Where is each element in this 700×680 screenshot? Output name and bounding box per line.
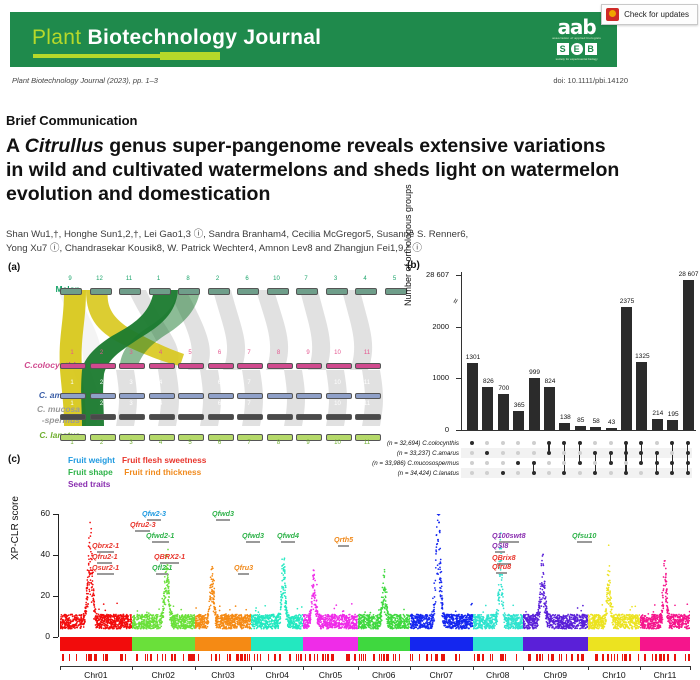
panel-c-axis-segment xyxy=(588,666,640,667)
synteny-chr-number: 5 xyxy=(178,401,202,407)
panel-c-sweep-tick xyxy=(241,654,242,661)
panel-c-sweep-tick xyxy=(442,654,443,661)
panel-c-chromosome-label: Chr04 xyxy=(251,670,303,680)
legend-item-fruit-flesh-sweetness: Fruit flesh sweetness xyxy=(122,455,206,465)
panel-b-matrix-dot-off xyxy=(532,441,536,445)
panel-b-matrix-dot-on xyxy=(686,441,690,445)
seb-logo: S E B xyxy=(552,43,601,55)
panel-b-y-tick-label: 1000 xyxy=(405,373,449,382)
panel-c-sweep-tick xyxy=(328,654,329,661)
panel-c-sweep-tick xyxy=(614,654,615,661)
panel-c-sweep-tick xyxy=(381,654,382,661)
synteny-chr-bar xyxy=(237,393,263,399)
synteny-chr-bar xyxy=(237,414,263,420)
panel-c-chromosome-block xyxy=(640,514,690,637)
panel-c-qtl-label: Qfwd2-1 xyxy=(146,531,174,543)
panel-c-sweep-tick xyxy=(69,654,70,661)
panel-c-sweep-tick xyxy=(230,654,231,661)
synteny-chr-number: 10 xyxy=(326,440,350,446)
panel-a-label: (a) xyxy=(8,262,20,273)
panel-c-sweep-tick xyxy=(198,654,199,661)
panel-c-chromosome-label: Chr11 xyxy=(640,670,690,680)
synteny-chr-bar xyxy=(326,363,352,369)
synteny-chr-bar xyxy=(208,288,230,295)
synteny-chr-bar xyxy=(208,414,234,420)
panel-c-sweep-tick xyxy=(559,654,560,661)
panel-c-sweep-tick xyxy=(211,654,212,661)
panel-c-y-tick-label: 0 xyxy=(24,631,50,641)
panel-b-bar xyxy=(590,427,601,430)
synteny-chr-bar xyxy=(326,288,348,295)
panel-c-sweep-tick xyxy=(86,654,87,661)
panel-c-sweep-tick xyxy=(219,654,220,661)
article-type: Brief Communication xyxy=(6,113,137,128)
synteny-chr-number: 9 xyxy=(296,401,320,407)
synteny-chr-number: 7 xyxy=(296,276,316,282)
panel-c-chromosome-label: Chr08 xyxy=(473,670,523,680)
panel-c-sweep-tick xyxy=(516,654,517,661)
panel-c-sweep-tick xyxy=(566,654,567,661)
panel-a-synteny: (a) xyxy=(8,262,403,444)
panel-c-chromosome-color-bar xyxy=(588,637,640,651)
panel-b-bar-value: 999 xyxy=(522,369,548,376)
panel-c-sweep-tick xyxy=(571,654,572,661)
synteny-chr-number: 6 xyxy=(208,401,232,407)
panel-c-sweep-tick xyxy=(191,654,192,661)
panel-c-sweep-tick xyxy=(530,654,531,661)
panel-c-sweep-tick xyxy=(644,654,645,661)
panel-c-sweep-tick xyxy=(175,654,176,661)
panel-b-bar-value: 1325 xyxy=(629,353,655,360)
synteny-chr-bar xyxy=(178,393,204,399)
panel-c-chromosome-label: Chr06 xyxy=(358,670,410,680)
synteny-chr-number: 6 xyxy=(237,276,257,282)
panel-c-qtl-underline xyxy=(97,572,113,575)
panel-c-y-tick-label: 40 xyxy=(24,549,50,559)
panel-c-sweep-tick xyxy=(395,654,396,661)
panel-c-chromosome-label: Chr05 xyxy=(303,670,357,680)
synteny-chr-bar xyxy=(119,393,145,399)
panel-b-bar-value: 2375 xyxy=(614,298,640,305)
panel-c-sweep-tick xyxy=(661,654,662,661)
synteny-chr-number: 10 xyxy=(326,350,350,356)
panel-c-sweep-tick xyxy=(354,654,355,661)
axis-break-icon: ≈ xyxy=(450,297,461,305)
synteny-chr-bar xyxy=(60,363,86,369)
title-genus: Citrullus xyxy=(25,135,104,157)
panel-c-sweep-tick xyxy=(595,654,596,661)
panel-c-y-tick xyxy=(53,514,58,515)
panel-c-sweep-tick xyxy=(245,654,246,661)
synteny-chr-number: 9 xyxy=(296,380,320,386)
synteny-chr-number: 11 xyxy=(355,440,379,446)
synteny-chr-bar xyxy=(237,363,263,369)
panel-c-sweep-tick xyxy=(482,654,483,661)
synteny-chr-number: 3 xyxy=(119,380,143,386)
panel-b-bar xyxy=(652,419,663,430)
panel-c-sweep-tick xyxy=(582,654,583,661)
synteny-chr-bar xyxy=(296,363,322,369)
panel-c-y-tick xyxy=(53,596,58,597)
panel-c-chromosome-block xyxy=(358,514,410,637)
panel-b-y-tick xyxy=(456,275,461,276)
panel-c-chromosome-color-bar xyxy=(132,637,195,651)
synteny-chr-number: 9 xyxy=(60,276,80,282)
page-title: A Citrullus genus super-pangenome reveal… xyxy=(6,134,626,206)
panel-b-matrix-dot-off xyxy=(655,441,659,445)
synteny-chr-number: 3 xyxy=(119,350,143,356)
synteny-chr-number: 7 xyxy=(237,440,261,446)
panel-c-chromosome-block xyxy=(410,514,473,637)
panel-c-y-axis xyxy=(58,514,59,637)
panel-c-qtl-label: Qfru8 xyxy=(492,562,511,574)
citation-left: Plant Biotechnology Journal (2023), pp. … xyxy=(12,76,158,85)
synteny-chr-bar xyxy=(355,414,381,420)
synteny-chr-number: 4 xyxy=(355,276,375,282)
panel-c-y-axis-label: XP-CLR score xyxy=(10,496,21,560)
panel-c-sweep-tick xyxy=(90,654,91,661)
synteny-chr-bar xyxy=(355,288,377,295)
panel-c-axis-segment xyxy=(60,666,132,667)
synteny-chr-number: 9 xyxy=(296,350,320,356)
panel-b-bar xyxy=(683,280,694,430)
synteny-chr-bar xyxy=(208,393,234,399)
synteny-chr-number: 1 xyxy=(60,350,84,356)
panel-c-axis-tick-end xyxy=(690,666,691,670)
synteny-chr-number: 7 xyxy=(237,350,261,356)
panel-c-sweep-tick xyxy=(548,654,549,661)
panel-b-bar xyxy=(467,363,478,430)
synteny-chr-number: 10 xyxy=(326,401,350,407)
synteny-chr-number: 6 xyxy=(208,440,232,446)
panel-c-sweep-tick xyxy=(663,654,664,661)
panel-b-matrix-dot-on xyxy=(470,441,474,445)
synteny-chr-bar xyxy=(149,393,175,399)
panel-c-sweep-tick xyxy=(399,654,400,661)
legend-item-fruit-rind-thickness: Fruit rind thickness xyxy=(124,467,201,477)
panel-c-sweep-tick xyxy=(437,654,438,661)
panel-c-chromosome-block xyxy=(60,514,132,637)
panel-c-legend: Fruit weight Fruit flesh sweetness Fruit… xyxy=(68,454,206,490)
panel-c-sweep-tick xyxy=(183,654,184,661)
synteny-chr-bar xyxy=(119,363,145,369)
panel-c-axis-segment xyxy=(132,666,195,667)
panel-c-sweep-tick xyxy=(459,654,460,661)
panel-c-qtl-underline xyxy=(156,572,168,575)
panel-b-bar xyxy=(544,387,555,430)
panel-c-sweep-tick xyxy=(189,654,190,661)
panel-b-matrix-dot-on xyxy=(578,441,582,445)
panel-c-chromosome-color-bar xyxy=(251,637,303,651)
journal-title-plant: Plant xyxy=(32,26,88,49)
panel-c-chromosome-color-bar xyxy=(523,637,588,651)
legend-item-fruit-weight: Fruit weight xyxy=(68,455,115,465)
panel-c-sweep-tick xyxy=(607,654,608,661)
synteny-chr-number: 3 xyxy=(119,440,143,446)
journal-header-band: Plant Biotechnology Journal aab associat… xyxy=(10,12,617,67)
panel-c-sweep-tick xyxy=(227,654,228,661)
panel-b-bar-value: 700 xyxy=(491,385,517,392)
panel-b-upset: (b) Number of orthologous groups ≈ 01000… xyxy=(405,258,697,473)
synteny-chr-bar xyxy=(149,288,171,295)
panel-c-chromosome-color-bar xyxy=(640,637,690,651)
panel-c-sweep-tick xyxy=(505,654,506,661)
panel-c-axis-segment xyxy=(640,666,690,667)
panel-b-matrix-dot-on xyxy=(624,441,628,445)
panel-c-axis-segment xyxy=(195,666,251,667)
panel-c-chromosome-color-bar xyxy=(358,637,410,651)
citation-doi: doi: 10.1111/pbi.14120 xyxy=(553,76,628,85)
panel-c-sweep-tick xyxy=(96,654,97,661)
panel-c-sweep-tick xyxy=(314,654,315,661)
panel-c-axis-segment xyxy=(358,666,410,667)
panel-c-chromosome-label: Chr02 xyxy=(132,670,195,680)
panel-c-manhattan: (c) Fruit weight Fruit flesh sweetness F… xyxy=(6,452,696,678)
synteny-chr-number: 2 xyxy=(90,440,114,446)
panel-c-sweep-tick xyxy=(455,654,456,661)
panel-c-qtl-underline xyxy=(281,540,294,543)
panel-c-qtl-label: Qfru3 xyxy=(234,563,253,575)
panel-b-bar xyxy=(575,426,586,430)
panel-c-y-tick xyxy=(53,637,58,638)
panel-b-bar xyxy=(482,387,493,430)
panel-c-sweep-tick xyxy=(275,654,276,661)
synteny-chr-bar xyxy=(296,393,322,399)
panel-c-sweep-tick xyxy=(689,654,690,661)
seb-letter-b: B xyxy=(585,43,597,55)
panel-c-qtl-label: Qrth5 xyxy=(334,535,353,547)
panel-c-sweep-tick xyxy=(659,654,660,661)
check-for-updates-label: Check for updates xyxy=(624,10,689,19)
panel-c-sweep-tick xyxy=(76,654,77,661)
panel-c-sweep-tick xyxy=(655,654,656,661)
panel-c-sweep-tick xyxy=(652,654,653,661)
journal-underline-tab xyxy=(160,52,220,60)
author-line-1: Shan Wu1,†, Honghe Sun1,2,†, Lei Gao1,3 … xyxy=(6,228,666,242)
synteny-chr-number: 2 xyxy=(208,276,228,282)
panel-c-sweep-tick xyxy=(638,654,639,661)
panel-b-y-axis xyxy=(461,272,462,430)
synteny-chr-bar xyxy=(267,363,293,369)
synteny-chr-bar xyxy=(149,363,175,369)
synteny-chr-number: 5 xyxy=(178,350,202,356)
synteny-chr-number: 6 xyxy=(208,380,232,386)
panel-b-bar xyxy=(513,411,524,430)
panel-b-bar xyxy=(667,420,678,430)
synteny-chr-number: 11 xyxy=(355,350,379,356)
panel-c-chromosome-color-bar xyxy=(195,637,251,651)
panel-b-bar-value: 28 607 xyxy=(676,271,700,278)
panel-c-sweep-tick xyxy=(539,654,540,661)
synteny-chr-number: 6 xyxy=(208,350,232,356)
synteny-chr-number: 4 xyxy=(149,350,173,356)
synteny-chr-bar xyxy=(267,288,289,295)
panel-c-sweep-tick xyxy=(332,654,333,661)
synteny-chr-bar xyxy=(178,288,200,295)
panel-c-sweep-tick xyxy=(492,654,493,661)
panel-c-axis-segment xyxy=(251,666,303,667)
panel-c-chromosome-label: Chr03 xyxy=(195,670,251,680)
panel-c-chromosome-color-bar xyxy=(473,637,523,651)
synteny-chr-number: 1 xyxy=(60,401,84,407)
panel-c-sweep-tick xyxy=(542,654,543,661)
panel-c-sweep-tick xyxy=(667,654,668,661)
panel-b-bar xyxy=(621,307,632,430)
panel-c-sweep-tick xyxy=(435,654,436,661)
journal-title-rest: Biotechnology Journal xyxy=(88,26,322,49)
check-for-updates-badge[interactable]: Check for updates xyxy=(601,4,698,25)
panel-b-matrix-dot-on xyxy=(547,441,551,445)
panel-c-qtl-underline xyxy=(338,544,350,547)
panel-c-qtl-label: Qfwd3 xyxy=(212,509,234,521)
panel-c-sweep-tick xyxy=(289,654,290,661)
panel-b-bar-value: 824 xyxy=(537,378,563,385)
aab-logo: aab association of applied biologists S … xyxy=(552,18,601,61)
panel-c-chromosome-color-bar xyxy=(60,637,132,651)
synteny-chr-number: 11 xyxy=(119,276,139,282)
legend-item-seed-traits: Seed traits xyxy=(68,479,110,489)
panel-b-bar xyxy=(529,378,540,430)
synteny-chr-number: 4 xyxy=(149,380,173,386)
synteny-chr-number: 3 xyxy=(119,401,143,407)
synteny-chr-number: 10 xyxy=(326,380,350,386)
panel-c-sweep-tick xyxy=(536,654,537,661)
panel-c-sweep-tick xyxy=(443,654,444,661)
panel-c-sweep-tick xyxy=(359,654,360,661)
synteny-chr-number: 3 xyxy=(326,276,346,282)
panel-c-sweep-tick xyxy=(137,654,138,661)
panel-c-sweep-tick xyxy=(215,654,216,661)
panel-c-qtl-underline xyxy=(577,540,592,543)
panel-c-qtl-underline xyxy=(152,540,169,543)
panel-c-qtl-label: Qfwd3 xyxy=(242,531,264,543)
panel-c-axis-segment xyxy=(303,666,357,667)
panel-c-sweep-tick xyxy=(121,654,122,661)
panel-c-qtl-label: Qfw2-3 xyxy=(142,509,166,521)
panel-c-label: (c) xyxy=(8,454,20,465)
panel-c-sweep-tick xyxy=(103,654,104,661)
panel-b-y-tick xyxy=(456,378,461,379)
synteny-chr-number: 5 xyxy=(178,440,202,446)
panel-b-set-label: (n = 32,694) C.colocynthis xyxy=(387,440,459,447)
synteny-chr-bar xyxy=(208,363,234,369)
panel-c-sweep-tick xyxy=(622,654,623,661)
panel-b-y-tick-label: 0 xyxy=(405,425,449,434)
panel-c-sweep-tick xyxy=(611,654,612,661)
synteny-chr-bar xyxy=(267,393,293,399)
legend-item-fruit-shape: Fruit shape xyxy=(68,467,113,477)
synteny-chr-bar xyxy=(60,414,86,420)
panel-c-chromosome-label: Chr09 xyxy=(523,670,588,680)
panel-c-sweep-tick xyxy=(363,654,364,661)
panel-b-bar xyxy=(636,362,647,430)
panel-b-y-tick xyxy=(456,327,461,328)
synteny-chr-bar xyxy=(60,288,82,295)
synteny-chr-bar xyxy=(119,414,145,420)
synteny-chr-number: 11 xyxy=(355,380,379,386)
panel-b-bar xyxy=(498,394,509,430)
synteny-chr-number: 12 xyxy=(90,276,110,282)
panel-c-sweep-tick xyxy=(171,654,172,661)
synteny-chr-bar xyxy=(60,393,86,399)
synteny-chr-bar xyxy=(90,414,116,420)
panel-c-sweep-tick xyxy=(238,654,239,661)
panel-c-sweep-tick xyxy=(305,654,306,661)
panel-c-sweep-tick xyxy=(260,654,261,661)
synteny-chr-number: 4 xyxy=(149,440,173,446)
synteny-chr-bar xyxy=(355,363,381,369)
panel-c-sweep-tick xyxy=(674,654,675,661)
panel-c-sweep-tick xyxy=(162,654,163,661)
panel-c-qtl-underline xyxy=(496,571,508,574)
seb-letter-s: S xyxy=(557,43,569,55)
panel-c-sweep-tick xyxy=(157,654,158,661)
panel-c-sweep-tick xyxy=(561,654,562,661)
panel-c-chromosome-label: Chr07 xyxy=(410,670,473,680)
panel-c-qtl-label: QSl8 xyxy=(492,541,508,553)
panel-c-sweep-tick xyxy=(249,654,250,661)
panel-c-qtl-label: Qfl2-1 xyxy=(152,563,172,575)
panel-b-y-tick xyxy=(456,430,461,431)
panel-c-sweep-tick xyxy=(431,654,432,661)
panel-c-qtl-underline xyxy=(246,540,259,543)
synteny-chr-number: 1 xyxy=(60,440,84,446)
synteny-chr-bar xyxy=(90,288,112,295)
synteny-chr-number: 8 xyxy=(267,401,291,407)
panel-c-sweep-tick xyxy=(490,654,491,661)
panel-c-sweep-tick xyxy=(317,654,318,661)
panel-c-sweep-tick xyxy=(685,654,686,661)
panel-c-qtl-underline xyxy=(147,518,161,521)
synteny-chr-bar xyxy=(149,414,175,420)
author-list: Shan Wu1,†, Honghe Sun1,2,†, Lei Gao1,3 … xyxy=(6,228,666,256)
panel-c-qtl-label: Qfsu10 xyxy=(572,531,596,543)
synteny-chr-bar xyxy=(90,393,116,399)
panel-c-sweep-tick xyxy=(309,654,310,661)
panel-c-sweep-tick xyxy=(551,654,552,661)
synteny-chr-number: 7 xyxy=(237,401,261,407)
panel-c-sweep-tick xyxy=(348,654,349,661)
synteny-chr-number: 2 xyxy=(90,350,114,356)
panel-c-sweep-tick xyxy=(300,654,301,661)
panel-c-qtl-underline xyxy=(216,518,229,521)
panel-c-sweep-tick xyxy=(322,654,323,661)
panel-b-bar xyxy=(606,428,617,430)
synteny-chr-bar xyxy=(237,288,259,295)
panel-c-sweep-tick xyxy=(365,654,366,661)
panel-b-x-axis xyxy=(461,430,696,431)
panel-c-axis-segment xyxy=(523,666,588,667)
synteny-chr-bar xyxy=(90,363,116,369)
panel-c-sweep-tick xyxy=(165,654,166,661)
synteny-chr-number: 7 xyxy=(237,380,261,386)
panel-c-chromosome-block xyxy=(303,514,357,637)
panel-b-matrix-dot-off xyxy=(501,441,505,445)
title-pre: A xyxy=(6,135,25,157)
synteny-chr-number: 5 xyxy=(385,276,405,282)
panel-c-sweep-tick xyxy=(274,654,275,661)
synteny-chr-number: 2 xyxy=(90,380,114,386)
seb-caption: society for experimental biology xyxy=(552,57,601,61)
panel-c-y-tick-label: 60 xyxy=(24,508,50,518)
panel-c-sweep-tick xyxy=(617,654,618,661)
panel-b-y-tick-label: 28 607 xyxy=(405,270,449,279)
panel-c-sweep-tick xyxy=(626,654,627,661)
author-line-2: Yong Xu7 ⓘ, Chandrasekar Kousik8, W. Pat… xyxy=(6,242,666,256)
panel-c-sweep-tick xyxy=(147,654,148,661)
synteny-chr-bar xyxy=(326,414,352,420)
seb-letter-e: E xyxy=(571,43,583,55)
